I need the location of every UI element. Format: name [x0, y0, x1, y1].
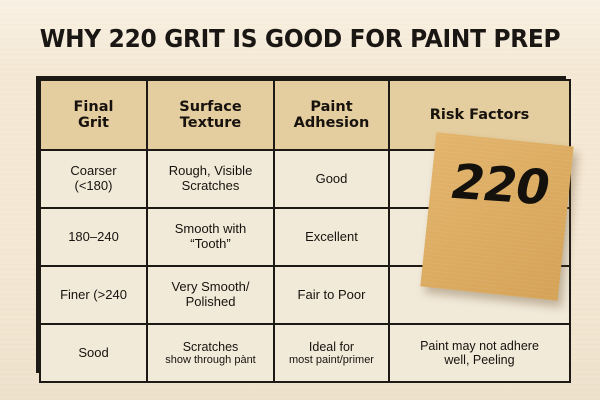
cell-surface-texture: Very Smooth/ Polished: [147, 266, 274, 324]
page-title: WHY 220 GRIT IS GOOD FOR PAINT PREP: [21, 24, 579, 53]
header-line-1: Surface: [152, 99, 269, 115]
cell-line-1: Fair to Poor: [279, 288, 384, 303]
cell-line-1: Finer (>240: [45, 288, 142, 303]
cell-line-1: Coarser: [45, 164, 142, 179]
cell-line-1: Sood: [45, 346, 142, 361]
cell-line-2: Scratches: [152, 179, 269, 194]
header-line-1: Final: [45, 99, 142, 115]
cell-line-1: Smooth with: [152, 222, 269, 237]
cell-final-grit: Coarser (<180): [40, 150, 147, 208]
cell-paint-adhesion: Ideal for most paint/primer: [274, 324, 389, 382]
cell-risk-factors: Paint may not adhere well, Peeling: [389, 324, 570, 382]
cell-line-1: Scratches: [152, 340, 269, 354]
column-header-surface-texture: Surface Texture: [147, 80, 274, 150]
cell-surface-texture: Smooth with “Tooth”: [147, 208, 274, 266]
cell-line-1: Very Smooth/: [152, 280, 269, 295]
cell-final-grit: Sood: [40, 324, 147, 382]
header-line-2: Grit: [45, 115, 142, 131]
cell-surface-texture: Rough, Visible Scratches: [147, 150, 274, 208]
sticky-note-value: 220: [445, 154, 555, 216]
cell-paint-adhesion: Fair to Poor: [274, 266, 389, 324]
cell-line-1: Ideal for: [279, 340, 384, 354]
header-line-2: Texture: [152, 115, 269, 131]
cell-line-1: Paint may not adhere: [394, 339, 565, 353]
cell-line-2: well, Peeling: [394, 353, 565, 367]
cell-line-2: (<180): [45, 179, 142, 194]
cell-line-2: most paint/primer: [279, 354, 384, 366]
cell-line-2: show through pànt: [152, 354, 269, 366]
cell-line-2: Polished: [152, 295, 269, 310]
cell-surface-texture: Scratches show through pànt: [147, 324, 274, 382]
column-header-final-grit: Final Grit: [40, 80, 147, 150]
cell-line-1: Good: [279, 172, 384, 187]
cell-paint-adhesion: Good: [274, 150, 389, 208]
header-line-2: Adhesion: [279, 115, 384, 131]
table-row: Sood Scratches show through pànt Ideal f…: [40, 324, 570, 382]
header-line-1: Risk Factors: [394, 107, 565, 123]
cell-final-grit: Finer (>240: [40, 266, 147, 324]
cell-line-1: Rough, Visible: [152, 164, 269, 179]
cell-paint-adhesion: Excellent: [274, 208, 389, 266]
sticky-note: 220: [420, 132, 573, 301]
column-header-paint-adhesion: Paint Adhesion: [274, 80, 389, 150]
cell-final-grit: 180–240: [40, 208, 147, 266]
header-line-1: Paint: [279, 99, 384, 115]
cell-line-1: 180–240: [45, 230, 142, 245]
cell-line-1: Excellent: [279, 230, 384, 245]
cell-line-2: “Tooth”: [152, 237, 269, 252]
